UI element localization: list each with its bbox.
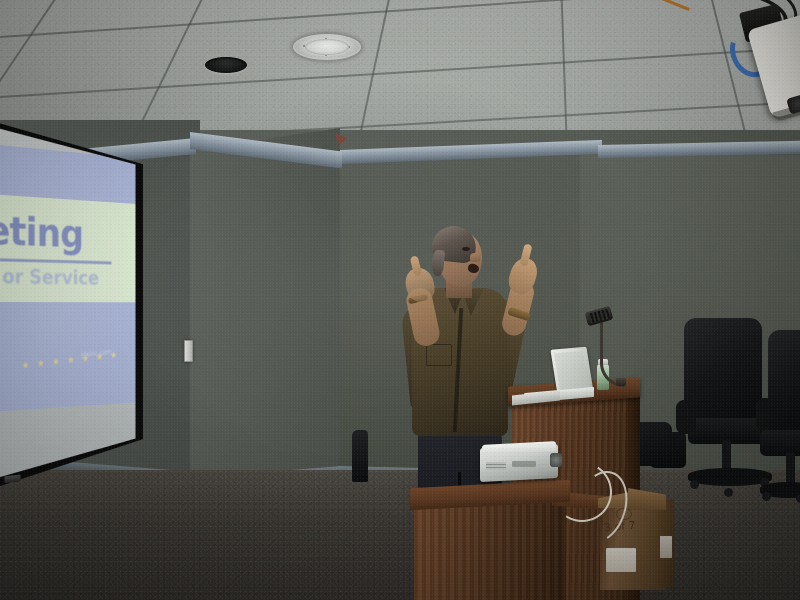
laptop-screen: [554, 351, 589, 391]
ceiling-speaker: [205, 57, 247, 73]
bag-against-column: [352, 430, 368, 482]
floor-case: [650, 432, 686, 468]
screen-logo-badge: [4, 475, 20, 484]
slide-subtitle: uct or Service: [0, 263, 136, 289]
projection-screen: keting uct or Service ★ ★ ★ ★ ★ ★ ★ life…: [0, 120, 143, 490]
cardboard-box-shipping-label: [606, 548, 636, 572]
microphone-gooseneck: [600, 318, 625, 387]
portable-projector-vent: [486, 462, 506, 470]
presenter-shirt-pocket: [426, 344, 452, 366]
presenter-nose: [470, 253, 481, 262]
low-table-wood-grain: [414, 500, 566, 600]
photograph-scene: keting uct or Service ★ ★ ★ ★ ★ ★ ★ life…: [0, 0, 800, 600]
microphone-base: [616, 378, 626, 386]
screen-surface: keting uct or Service ★ ★ ★ ★ ★ ★ ★ life…: [0, 126, 136, 479]
portable-projector-lens: [550, 453, 562, 467]
ceiling-light-fixture: [292, 33, 362, 61]
presenter-eye: [462, 247, 470, 251]
portable-projector-label: [512, 461, 536, 467]
cardboard-box-side-label: [660, 536, 672, 558]
light-switch[interactable]: [184, 340, 193, 362]
wall-column: [190, 128, 340, 508]
